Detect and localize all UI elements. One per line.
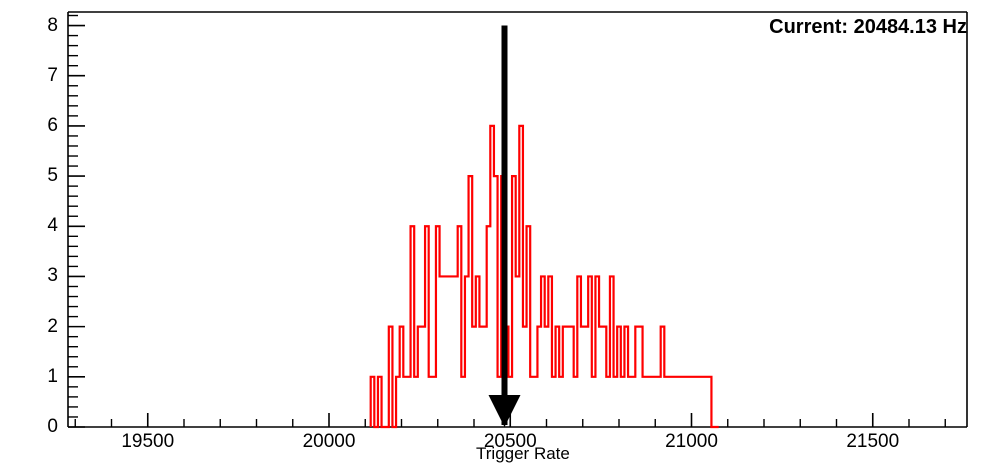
x-tick-label: 19500	[103, 431, 193, 453]
current-rate-label: Current: 20484.13 Hz	[769, 16, 967, 39]
y-tick-label: 6	[22, 115, 58, 137]
y-tick-label: 0	[22, 416, 58, 438]
y-tick-label: 2	[22, 316, 58, 338]
x-tick-label: 21500	[828, 431, 918, 453]
root-histogram-svg	[0, 0, 996, 472]
plot-canvas: Current: 20484.13 Hz Trigger Rate 012345…	[0, 0, 996, 472]
y-tick-label: 3	[22, 265, 58, 287]
x-tick-label: 21000	[647, 431, 737, 453]
y-tick-label: 7	[22, 65, 58, 87]
y-tick-label: 8	[22, 15, 58, 37]
y-tick-label: 4	[22, 215, 58, 237]
x-tick-label: 20500	[465, 431, 555, 453]
y-tick-label: 1	[22, 366, 58, 388]
x-tick-label: 20000	[284, 431, 374, 453]
y-tick-label: 5	[22, 165, 58, 187]
